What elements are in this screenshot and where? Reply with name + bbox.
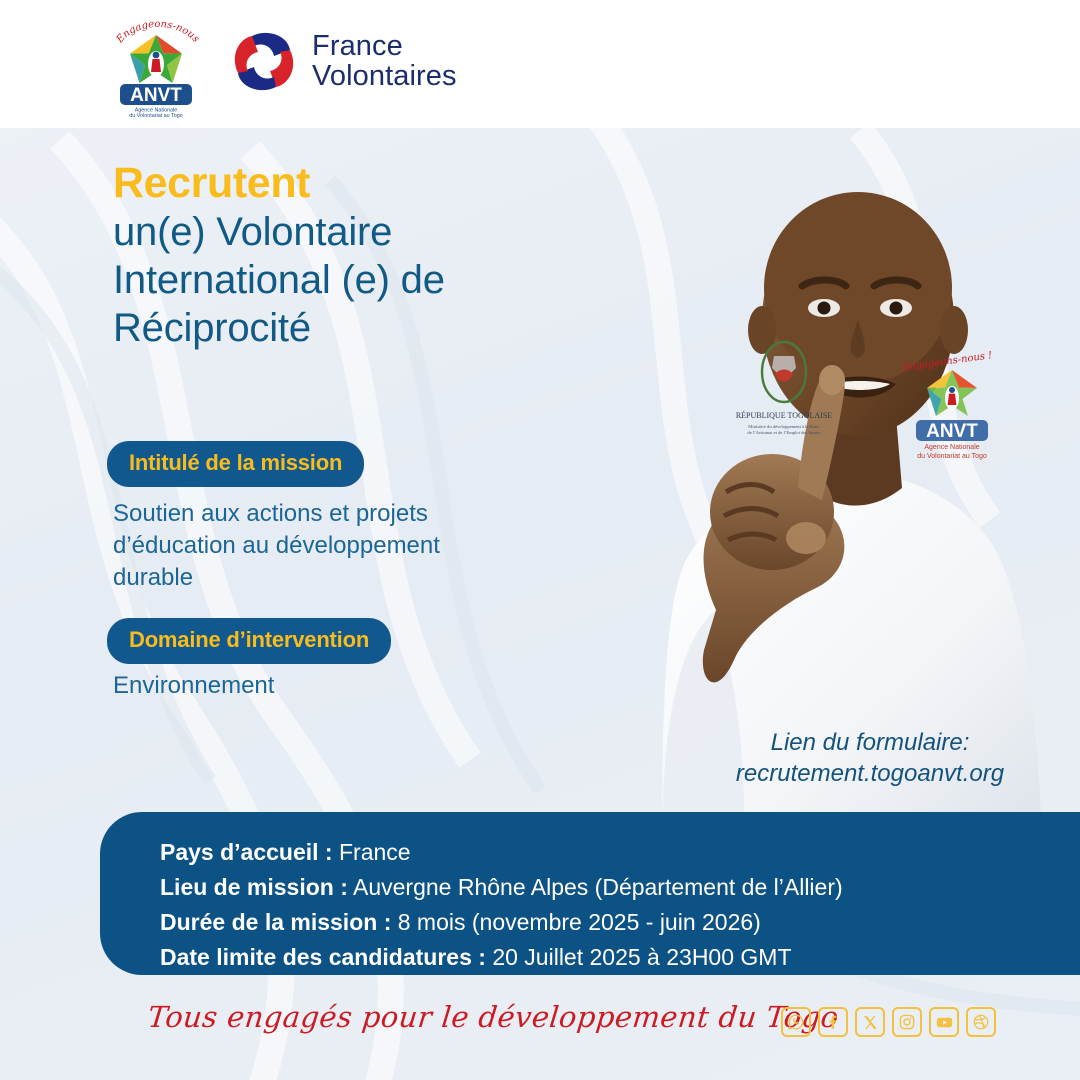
detail-label-duration: Durée de la mission :: [160, 909, 391, 935]
detail-row-deadline: Date limite des candidatures : 20 Juille…: [160, 940, 843, 975]
detail-label-deadline: Date limite des candidatures :: [160, 944, 486, 970]
whatsapp-icon[interactable]: [781, 1007, 811, 1037]
france-volontaires-wordmark: France Volontaires: [312, 31, 457, 91]
intervention-domain-pill: Domaine d’intervention: [107, 618, 391, 664]
headline-line-3: Réciprocité: [113, 304, 633, 352]
mission-details-box: Pays d’accueil : France Lieu de mission …: [100, 812, 1080, 975]
svg-text:ANVT: ANVT: [926, 421, 978, 442]
anvt-logo: Engageons-nous ! ANVT Agence Nationale d…: [108, 14, 204, 118]
svg-text:ANVT: ANVT: [130, 85, 182, 106]
detail-value-duration: 8 mois (novembre 2025 - juin 2026): [398, 909, 761, 935]
detail-row-duration: Durée de la mission : 8 mois (novembre 2…: [160, 905, 843, 940]
fv-line-1: France: [312, 31, 457, 61]
x-twitter-icon[interactable]: [855, 1007, 885, 1037]
headline-line-2: International (e) de: [113, 256, 633, 304]
facebook-icon[interactable]: [818, 1007, 848, 1037]
instagram-icon[interactable]: [892, 1007, 922, 1037]
form-link-url[interactable]: recrutement.togoanvt.org: [690, 758, 1050, 789]
headline-line-1: un(e) Volontaire: [113, 208, 633, 256]
form-link-label: Lien du formulaire:: [690, 727, 1050, 758]
mission-title-section: Intitulé de la mission: [107, 441, 364, 487]
svg-text:RÉPUBLIQUE TOGOLAISE: RÉPUBLIQUE TOGOLAISE: [736, 410, 832, 420]
headline-emphasis: Recrutent: [113, 160, 633, 206]
header-bar: Engageons-nous ! ANVT Agence Nationale d…: [0, 0, 1080, 128]
fv-line-2: Volontaires: [312, 61, 457, 91]
svg-text:du Volontariat au Togo: du Volontariat au Togo: [129, 113, 183, 118]
detail-label-country: Pays d’accueil :: [160, 839, 333, 865]
detail-value-country: France: [339, 839, 411, 865]
social-links: [781, 1007, 996, 1037]
form-link-block[interactable]: Lien du formulaire: recrutement.togoanvt…: [690, 727, 1050, 789]
france-volontaires-logo: France Volontaires: [232, 30, 457, 92]
headline-block: Recrutent un(e) Volontaire International…: [113, 160, 633, 352]
mission-title-body: Soutien aux actions et projets d’éducati…: [113, 498, 513, 594]
svg-text:de l’Artisanat et de l’Emploi: de l’Artisanat et de l’Emploi des Jeunes: [747, 430, 820, 435]
footer-tagline: Tous engagés pour le développement du To…: [146, 1000, 840, 1034]
intervention-domain-section: Domaine d’intervention: [107, 618, 391, 664]
youtube-icon[interactable]: [929, 1007, 959, 1037]
detail-label-location: Lieu de mission :: [160, 874, 348, 900]
detail-value-location: Auvergne Rhône Alpes (Département de l’A…: [353, 874, 843, 900]
france-volontaires-mark-icon: [232, 30, 296, 92]
detail-row-country: Pays d’accueil : France: [160, 835, 843, 870]
detail-row-location: Lieu de mission : Auvergne Rhône Alpes (…: [160, 870, 843, 905]
poster-root: Engageons-nous ! ANVT Agence Nationale d…: [0, 0, 1080, 1080]
detail-value-deadline: 20 Juillet 2025 à 23H00 GMT: [492, 944, 791, 970]
mission-title-pill: Intitulé de la mission: [107, 441, 364, 487]
intervention-domain-body: Environnement: [113, 672, 274, 700]
svg-text:Agence Nationale: Agence Nationale: [924, 444, 979, 451]
dribbble-icon[interactable]: [966, 1007, 996, 1037]
svg-text:du Volontariat au Togo: du Volontariat au Togo: [917, 453, 987, 460]
